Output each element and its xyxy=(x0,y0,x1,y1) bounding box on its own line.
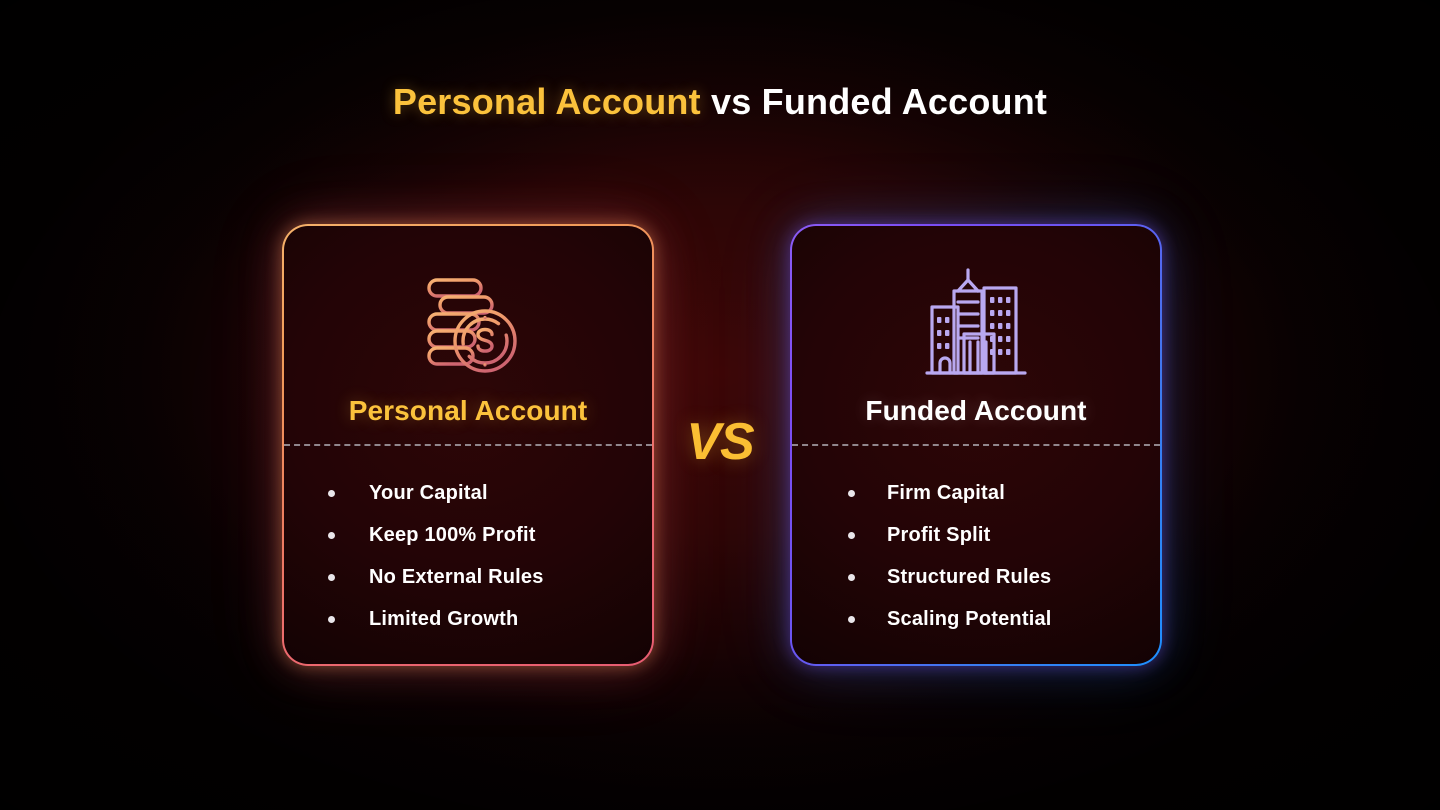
list-item: Structured Rules xyxy=(848,556,1160,598)
bullet-dot-icon xyxy=(328,532,335,539)
bullet-dot-icon xyxy=(328,616,335,623)
bullet-dot-icon xyxy=(848,532,855,539)
list-item-label: Your Capital xyxy=(369,482,488,505)
list-item-label: Firm Capital xyxy=(887,482,1005,505)
bullet-dot-icon xyxy=(848,490,855,497)
bullet-dot-icon xyxy=(328,490,335,497)
vs-badge: VS xyxy=(0,412,1440,472)
list-item-label: Keep 100% Profit xyxy=(369,524,536,547)
list-item-label: Limited Growth xyxy=(369,608,518,631)
bullet-dot-icon xyxy=(848,574,855,581)
bullet-dot-icon xyxy=(848,616,855,623)
page-title-rest: vs Funded Account xyxy=(701,81,1047,122)
city-buildings-icon xyxy=(924,270,1028,382)
list-item: Firm Capital xyxy=(848,472,1160,514)
comparison-slide: Personal Account vs Funded Account xyxy=(0,0,1440,810)
list-item: Your Capital xyxy=(328,472,652,514)
bullet-dot-icon xyxy=(328,574,335,581)
list-item: Profit Split xyxy=(848,514,1160,556)
card-funded-feature-list: Firm Capital Profit Split Structured Rul… xyxy=(792,472,1160,640)
list-item-label: Structured Rules xyxy=(887,566,1051,589)
page-title: Personal Account vs Funded Account xyxy=(0,78,1440,126)
list-item: Keep 100% Profit xyxy=(328,514,652,556)
list-item: No External Rules xyxy=(328,556,652,598)
coin-stack-dollar-icon xyxy=(412,270,524,382)
card-personal-feature-list: Your Capital Keep 100% Profit No Externa… xyxy=(284,472,652,640)
list-item: Scaling Potential xyxy=(848,598,1160,640)
page-title-highlight: Personal Account xyxy=(393,81,701,122)
list-item-label: No External Rules xyxy=(369,566,544,589)
list-item-label: Scaling Potential xyxy=(887,608,1052,631)
list-item: Limited Growth xyxy=(328,598,652,640)
list-item-label: Profit Split xyxy=(887,524,991,547)
